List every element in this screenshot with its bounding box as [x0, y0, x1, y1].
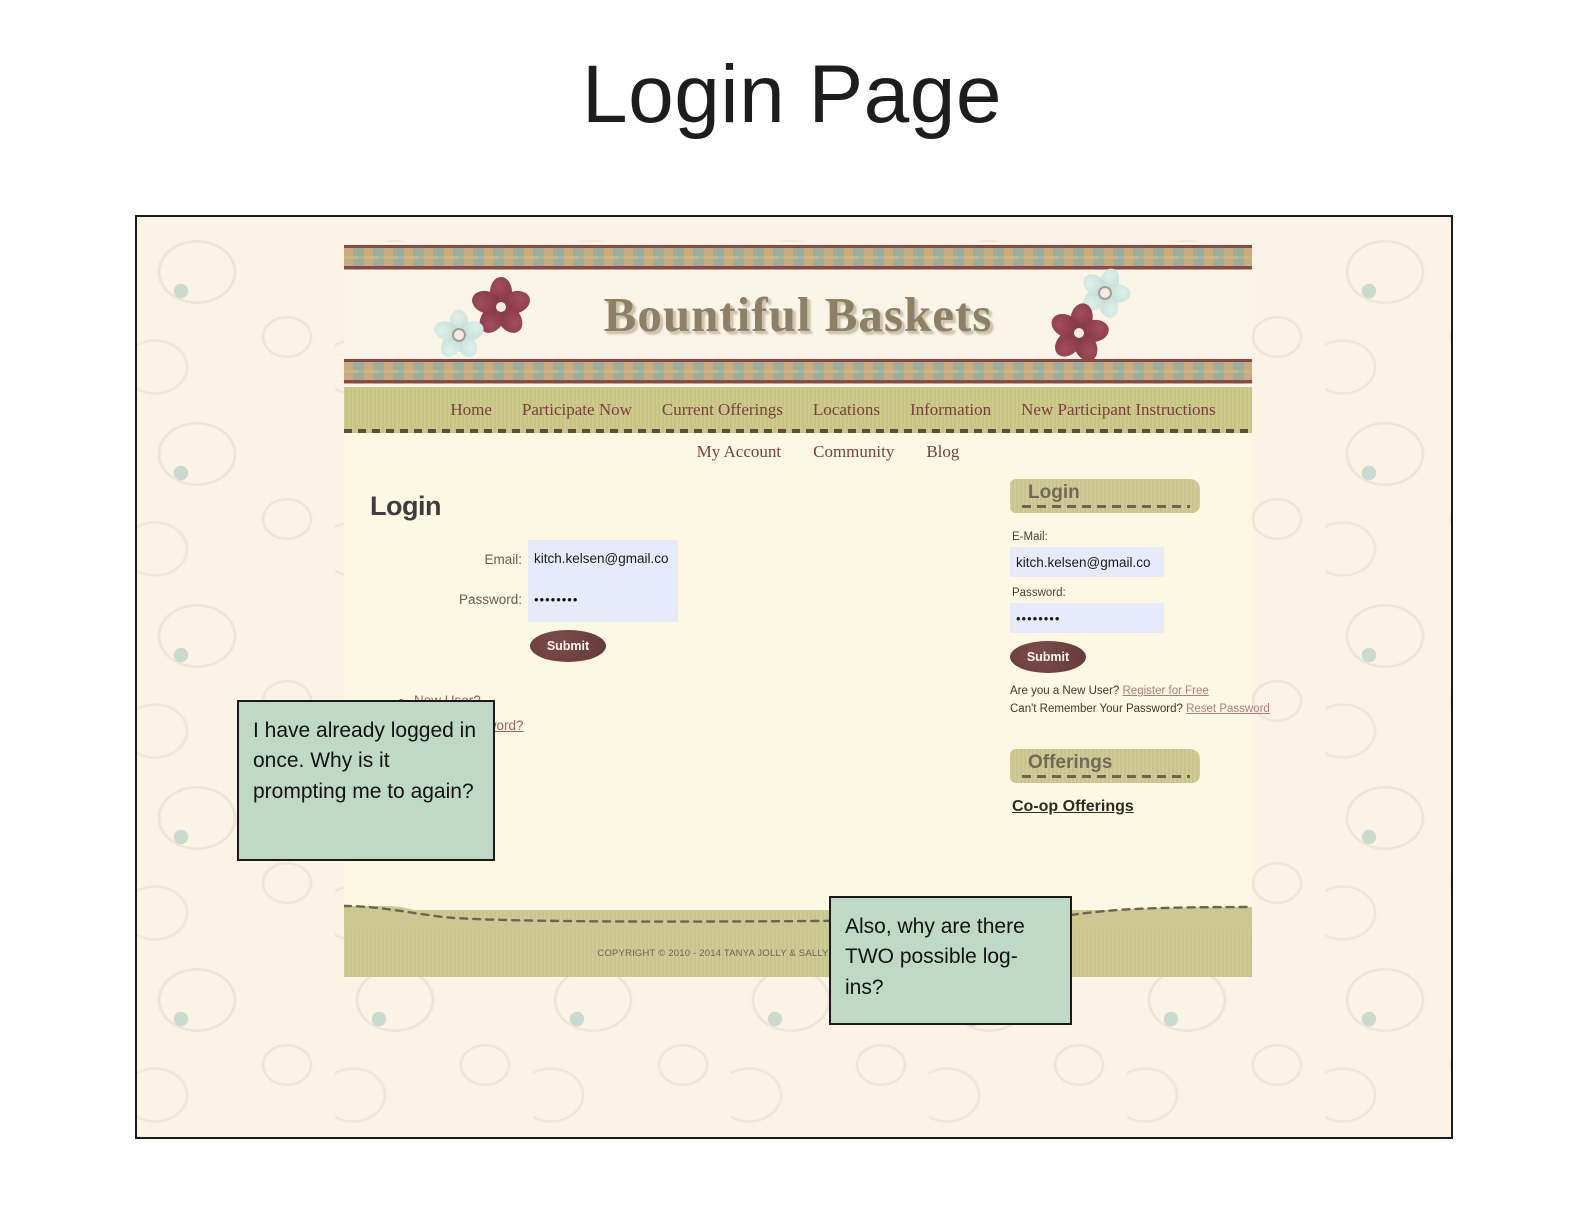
sidebar-login-panel-header: Login — [1010, 479, 1200, 513]
main-login-heading: Login — [370, 491, 970, 522]
sidebar-offerings-panel-title: Offerings — [1028, 752, 1112, 774]
coop-offerings-link[interactable]: Co-op Offerings — [1012, 798, 1134, 816]
site-banner: Bountiful Baskets — [344, 242, 1252, 387]
nav-item-information[interactable]: Information — [910, 400, 991, 420]
sidebar-forgot-text: Can't Remember Your Password? — [1010, 703, 1183, 715]
footer-copyright: COPYRIGHT © 2010 - 2014 TANYA JOLLY & SA… — [344, 948, 1252, 959]
sidebar-forgot-row: Can't Remember Your Password? Reset Pass… — [1010, 703, 1246, 715]
nav-item-my-account[interactable]: My Account — [697, 442, 782, 462]
banner-bottom-stripe — [344, 359, 1252, 384]
main-submit-button[interactable]: Submit — [530, 630, 606, 662]
list-item: New User? — [414, 692, 970, 710]
sidebar: Login E-Mail: kitch.kelsen@gmail.co Pass… — [1010, 471, 1246, 816]
sidebar-email-input[interactable]: kitch.kelsen@gmail.co — [1010, 547, 1164, 577]
sidebar-offerings-panel-header: Offerings — [1010, 749, 1200, 783]
sidebar-new-user-row: Are you a New User? Register for Free — [1010, 685, 1246, 697]
nav-item-blog[interactable]: Blog — [926, 442, 959, 462]
primary-navigation: Home Participate Now Current Offerings L… — [344, 387, 1252, 433]
main-email-input[interactable]: kitch.kelsen@gmail.co — [534, 551, 669, 566]
nav-item-home[interactable]: Home — [450, 400, 492, 420]
main-password-label: Password: — [440, 592, 522, 607]
main-login-form: Email: kitch.kelsen@gmail.co Password: •… — [370, 540, 970, 650]
page-title: Login Page — [0, 48, 1584, 142]
main-password-input[interactable]: •••••••• — [534, 592, 578, 607]
site-footer: COPYRIGHT © 2010 - 2014 TANYA JOLLY & SA… — [344, 892, 1252, 977]
stitch-line-bottom — [344, 370, 1252, 373]
footer-wave-shape — [344, 892, 1252, 930]
list-item: Forgot Password? — [414, 717, 970, 735]
red-flower-icon-right — [1044, 298, 1114, 368]
sidebar-password-label: Password: — [1012, 587, 1246, 599]
annotation-callout-login-prompt: I have already logged in once. Why is it… — [237, 700, 495, 861]
nav-item-locations[interactable]: Locations — [813, 400, 880, 420]
nav-item-current-offerings[interactable]: Current Offerings — [662, 400, 783, 420]
sidebar-new-user-text: Are you a New User? — [1010, 685, 1119, 697]
sidebar-password-input[interactable]: •••••••• — [1010, 603, 1164, 633]
screenshot-frame: Bountiful Baskets — [135, 215, 1453, 1139]
nav-item-community[interactable]: Community — [813, 442, 894, 462]
sidebar-login-panel-title: Login — [1028, 482, 1080, 504]
nav-item-new-participant-instructions[interactable]: New Participant Instructions — [1021, 400, 1216, 420]
stitch-line-top — [344, 256, 1252, 259]
reset-password-link[interactable]: Reset Password — [1186, 703, 1270, 715]
nav-item-participate-now[interactable]: Participate Now — [522, 400, 632, 420]
annotation-callout-two-logins: Also, why are there TWO possible log-ins… — [829, 896, 1072, 1025]
site-logo: Bountiful Baskets — [604, 286, 993, 343]
register-for-free-link[interactable]: Register for Free — [1123, 685, 1209, 697]
blue-flower-icon — [428, 304, 490, 366]
sidebar-email-label: E-Mail: — [1012, 531, 1246, 543]
main-email-label: Email: — [466, 552, 522, 567]
sidebar-submit-button[interactable]: Submit — [1010, 641, 1086, 673]
secondary-navigation: My Account Community Blog — [344, 433, 1252, 471]
